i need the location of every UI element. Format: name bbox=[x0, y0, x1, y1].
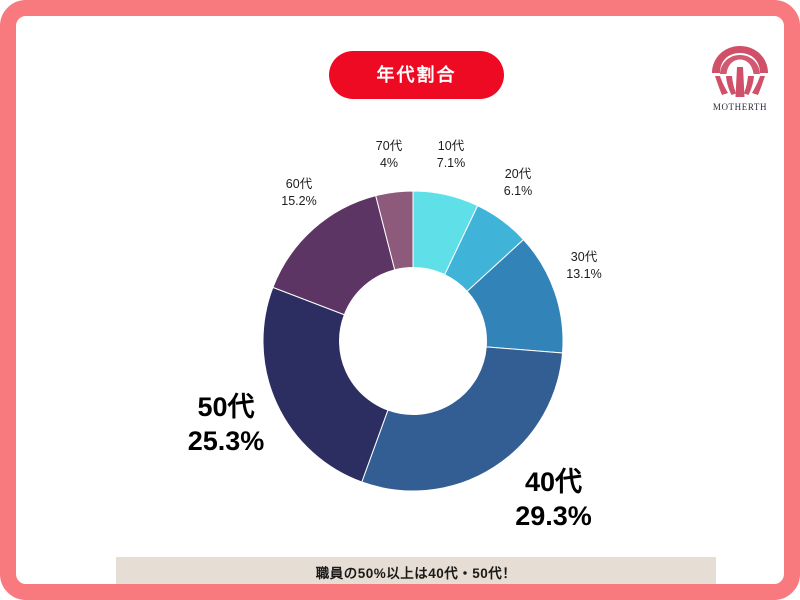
slice-label-value: 4% bbox=[354, 155, 424, 172]
slice-label-name: 30代 bbox=[544, 249, 624, 266]
age-ratio-donut-chart: 10代 7.1% 20代 6.1% 30代 13.1% 40代 29.3% 50… bbox=[16, 16, 784, 584]
slice-label-value: 7.1% bbox=[414, 155, 488, 172]
slice-label-70dai: 70代 4% bbox=[354, 138, 424, 172]
summary-banner: 職員の50%以上は40代・50代！ bbox=[116, 557, 716, 584]
slide-root: 年代割合 MOTHERTH bbox=[0, 0, 800, 600]
slice-label-name: 20代 bbox=[481, 166, 555, 183]
slice-label-name: 60代 bbox=[259, 176, 339, 193]
slice-label-30dai: 30代 13.1% bbox=[544, 249, 624, 283]
slice-label-value: 29.3% bbox=[471, 500, 636, 534]
slice-label-10dai: 10代 7.1% bbox=[414, 138, 488, 172]
slice-label-value: 6.1% bbox=[481, 183, 555, 200]
slice-label-name: 40代 bbox=[471, 466, 636, 500]
summary-banner-text: 職員の50%以上は40代・50代！ bbox=[316, 562, 517, 582]
slice-label-value: 25.3% bbox=[151, 425, 301, 459]
slice-label-name: 10代 bbox=[414, 138, 488, 155]
slice-label-20dai: 20代 6.1% bbox=[481, 166, 555, 200]
slice-label-40dai: 40代 29.3% bbox=[471, 466, 636, 534]
donut-slice-group bbox=[263, 191, 563, 491]
slice-label-value: 13.1% bbox=[544, 266, 624, 283]
slice-label-name: 50代 bbox=[151, 391, 301, 425]
slice-label-value: 15.2% bbox=[259, 193, 339, 210]
slice-label-name: 70代 bbox=[354, 138, 424, 155]
slice-label-50dai: 50代 25.3% bbox=[151, 391, 301, 459]
slice-label-60dai: 60代 15.2% bbox=[259, 176, 339, 210]
slide-canvas: 年代割合 MOTHERTH bbox=[16, 16, 784, 584]
donut-chart-svg bbox=[263, 191, 563, 491]
